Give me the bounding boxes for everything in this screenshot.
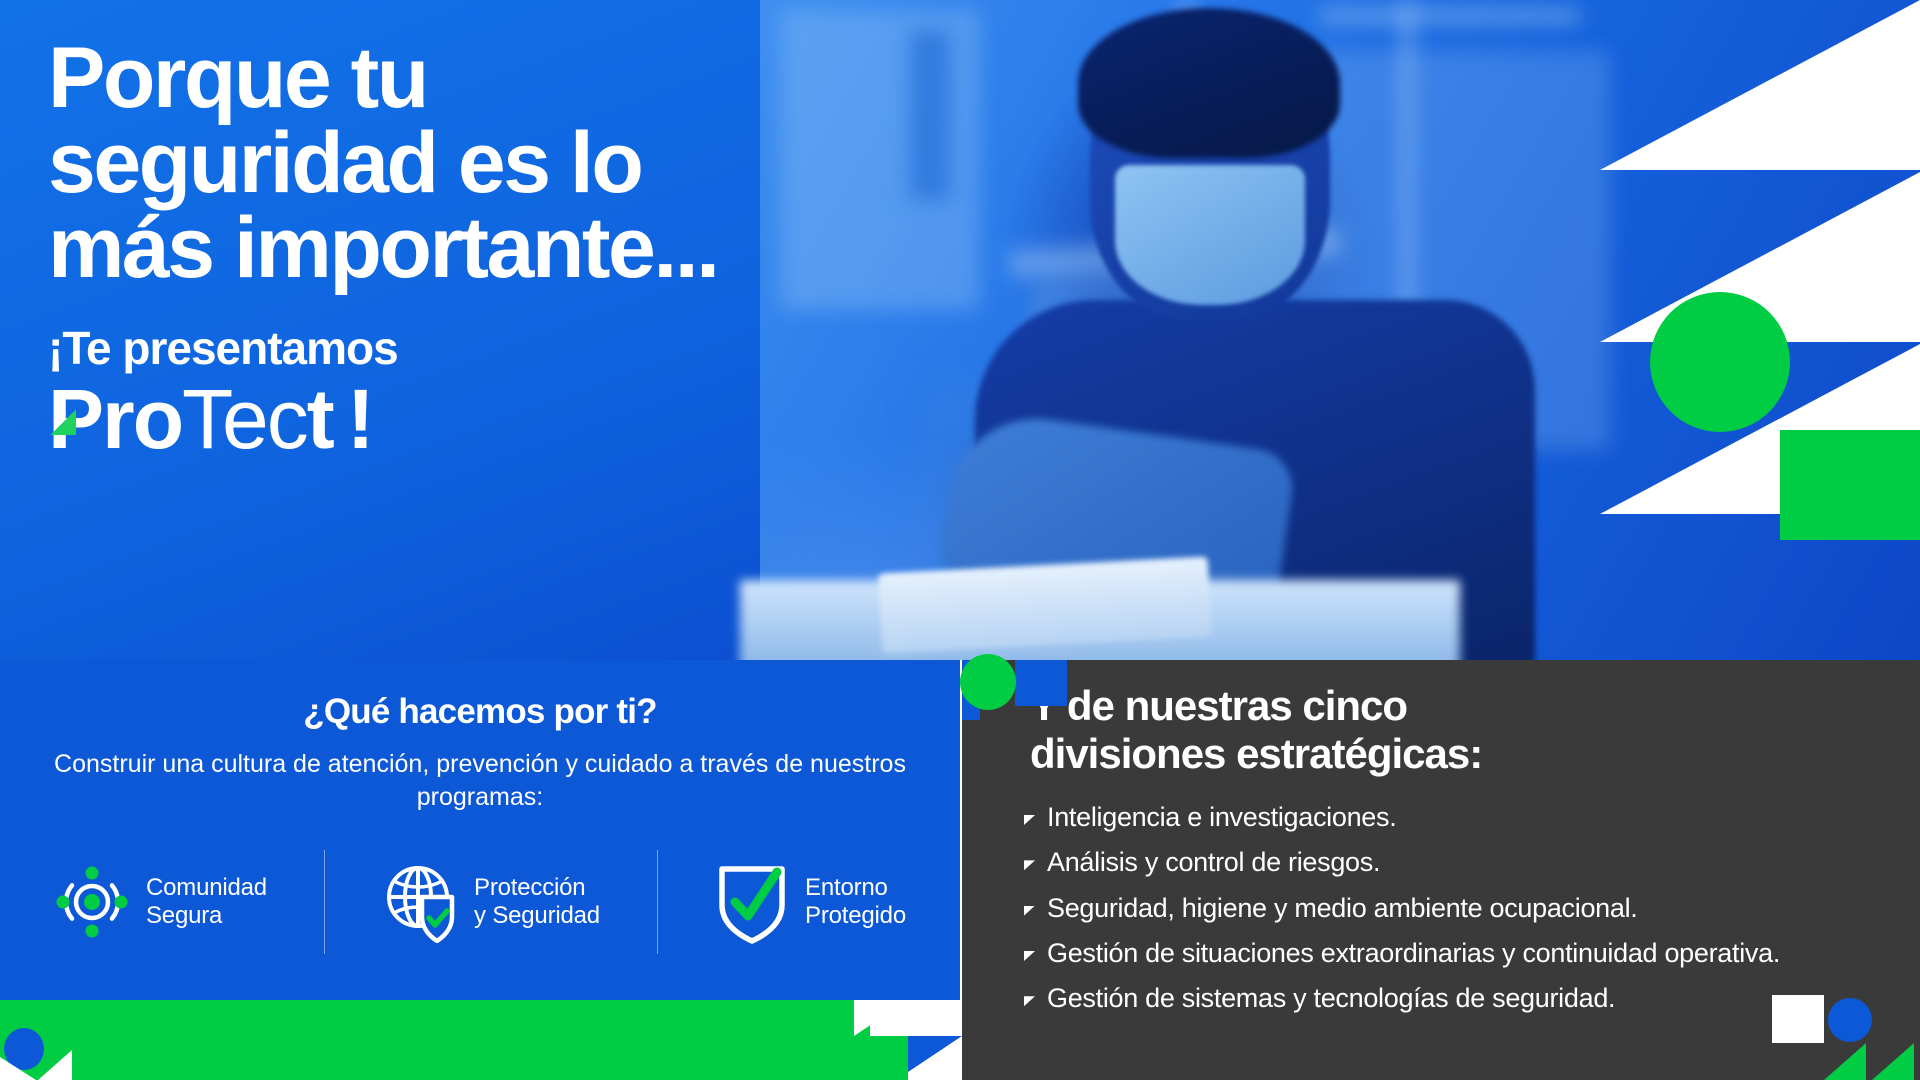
hero-copy: Porque tu seguridad es lo más importante… (48, 36, 868, 461)
headline-line-3: más importante... (48, 206, 868, 291)
program-label: Protección y Seguridad (474, 874, 600, 931)
list-item: Inteligencia e investigaciones. (1024, 802, 1884, 833)
triangle-bullet-icon (1024, 996, 1035, 1006)
program-divider (657, 850, 658, 954)
program-label: Entorno Protegido (805, 874, 906, 931)
program-label: Comunidad Segura (146, 874, 267, 931)
green-rectangle-decoration (1780, 430, 1920, 540)
zigzag-decoration (854, 1000, 908, 1036)
list-item: Seguridad, higiene y medio ambiente ocup… (1024, 893, 1884, 924)
list-item: Gestión de sistemas y tecnologías de seg… (1024, 983, 1884, 1014)
divisions-list: Inteligencia e investigaciones. Análisis… (1024, 802, 1884, 1029)
triangle-bullet-icon (1024, 906, 1035, 916)
hero-section: Porque tu seguridad es lo más importante… (0, 0, 1920, 660)
headline-line-2: seguridad es lo (48, 121, 868, 206)
services-panel: ¿Qué hacemos por ti? Construir una cultu… (0, 660, 960, 1000)
white-band-decoration (908, 1072, 962, 1080)
white-square-decoration (1772, 995, 1824, 1043)
division-label: Inteligencia e investigaciones. (1047, 802, 1396, 833)
green-circle-decoration (1650, 292, 1790, 432)
logo-t-text: t (307, 377, 333, 461)
green-footer-strip (0, 1000, 870, 1080)
program-item-proteccion-y-seguridad[interactable]: Protección y Seguridad (368, 861, 614, 943)
divisions-title: Y de nuestras cinco divisiones estratégi… (1030, 682, 1770, 778)
services-subtitle: Construir una cultura de atención, preve… (0, 748, 960, 814)
triangle-bullet-icon (1024, 951, 1035, 961)
zigzag-decoration (908, 1036, 962, 1072)
protect-logo: Pro Tec t ! (48, 377, 868, 461)
globe-shield-check-icon (382, 861, 458, 943)
division-label: Análisis y control de riesgos. (1047, 847, 1380, 878)
list-item: Análisis y control de riesgos. (1024, 847, 1884, 878)
logo-tec-text: Tec (182, 377, 307, 461)
community-target-icon (54, 864, 130, 940)
zigzag-decoration (908, 1000, 962, 1036)
program-item-comunidad-segura[interactable]: Comunidad Segura (40, 864, 281, 940)
green-fill-decoration (854, 1036, 870, 1080)
programs-list: Comunidad Segura Protecci (40, 850, 920, 954)
triangle-bullet-icon (1024, 860, 1035, 870)
division-label: Gestión de situaciones extraordinarias y… (1047, 938, 1780, 969)
blue-square-decoration (1015, 660, 1067, 706)
green-fill-decoration (870, 1036, 908, 1080)
list-item: Gestión de situaciones extraordinarias y… (1024, 938, 1884, 969)
logo-exclamation: ! (347, 377, 373, 461)
person-hair (1078, 8, 1340, 158)
green-circle-decoration (960, 654, 1016, 710)
division-label: Gestión de sistemas y tecnologías de seg… (1047, 983, 1615, 1014)
shield-check-icon (715, 860, 789, 944)
face-mask (1115, 165, 1305, 305)
promo-banner: Porque tu seguridad es lo más importante… (0, 0, 1920, 1080)
photo-blur-shape (1320, 10, 1580, 22)
hero-kicker: ¡Te presentamos (48, 325, 868, 371)
program-divider (324, 850, 325, 954)
photo-blur-shape (910, 30, 950, 200)
headline-line-1: Porque tu (48, 36, 868, 121)
page-title: Porque tu seguridad es lo más importante… (48, 36, 868, 291)
blue-circle-decoration (1828, 998, 1872, 1042)
program-item-entorno-protegido[interactable]: Entorno Protegido (701, 860, 920, 944)
services-title: ¿Qué hacemos por ti? (0, 692, 960, 732)
division-label: Seguridad, higiene y medio ambiente ocup… (1047, 893, 1638, 924)
triangle-bullet-icon (1024, 815, 1035, 825)
